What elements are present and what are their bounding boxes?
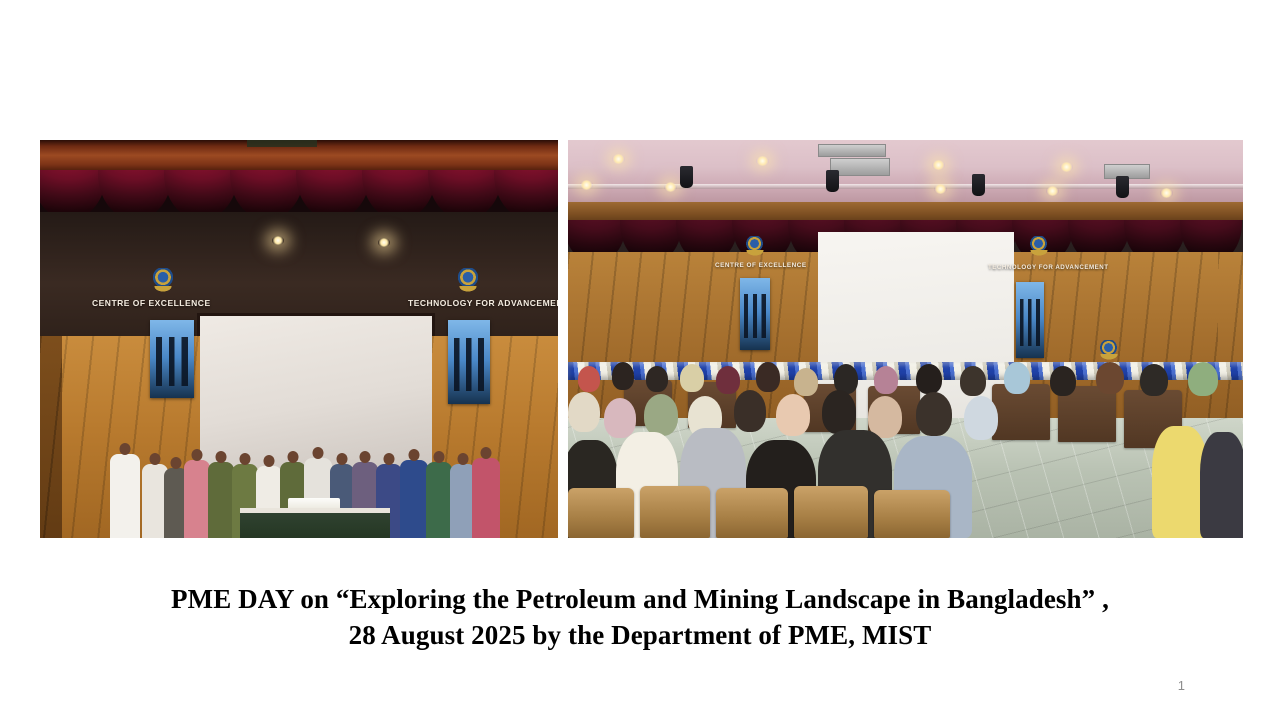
wall-text-technology-for-advancement: TECHNOLOGY FOR ADVANCEMENT [408,298,558,308]
audience-member [1188,362,1218,396]
wall-text-technology-for-advancement: TECHNOLOGY FOR ADVANCEMENT [988,264,1108,271]
slide-caption: PME DAY on “Exploring the Petroleum and … [60,582,1220,653]
institution-crest-icon [1030,236,1047,254]
wall-text-centre-of-excellence: CENTRE OF EXCELLENCE [715,262,807,269]
ceiling-vent [247,140,317,147]
caption-line-1: PME DAY on “Exploring the Petroleum and … [60,582,1220,618]
ceiling-light [1160,188,1173,198]
person [110,454,140,538]
poster-rig-graphic [744,294,766,339]
audience-member [646,366,668,392]
audience-member [1200,432,1243,538]
audience-member [1096,362,1124,394]
audience-member [874,366,898,394]
audience-member [794,368,818,396]
ceiling-light [612,154,625,164]
poster-rig-graphic [156,337,188,385]
wall-poster-right [448,320,490,404]
institution-crest-icon [458,268,478,290]
stage-spotlight [378,238,390,247]
wall-poster-left [740,278,770,350]
ceiling-light [1060,162,1073,172]
audience-member [680,364,704,392]
wall-poster-right [1016,282,1044,358]
audience-member [960,366,986,396]
institution-crest-icon [746,236,763,254]
audience-member [734,390,766,432]
audience-photo: CENTRE OF EXCELLENCE TECHNOLOGY FOR ADVA… [568,140,1243,538]
audience-member [568,392,600,432]
wall-poster-left [150,320,194,398]
audience-member [776,394,810,436]
ceiling-speaker [1116,176,1129,198]
wall-text-centre-of-excellence: CENTRE OF EXCELLENCE [92,298,211,308]
stage-spotlight [272,236,284,245]
audience-member [604,398,636,438]
auditorium-chair [794,486,868,538]
audience-member [1004,362,1030,394]
audience-member [916,392,952,436]
poster-rig-graphic [454,338,484,390]
person [400,460,428,538]
audience-member [1140,364,1168,396]
ceiling-light [664,182,677,192]
audience-member [916,364,942,394]
person [208,462,234,538]
group-photo: CENTRE OF EXCELLENCE TECHNOLOGY FOR ADVA… [40,140,558,538]
ceiling-light [934,184,947,194]
ceiling-light [932,160,945,170]
audience-member [756,362,780,392]
ceiling-speaker [680,166,693,188]
slide-canvas: CENTRE OF EXCELLENCE TECHNOLOGY FOR ADVA… [0,0,1280,720]
ceiling-vent [818,144,886,157]
auditorium-chair [568,488,634,538]
auditorium-chair [716,488,788,538]
person [472,458,500,538]
institution-crest-icon [153,268,173,290]
person [426,462,452,538]
ceiling-light [580,180,593,190]
page-number: 1 [1178,678,1185,693]
ac-vent [830,158,890,176]
audience-member [612,362,634,390]
wood-wall-edge [40,336,62,538]
auditorium-chair [874,490,950,538]
audience-member [964,396,998,440]
ceiling-speaker [972,174,985,196]
ceiling-light [1046,186,1059,196]
person [184,460,210,538]
audience-member [822,390,856,434]
auditorium-chair [640,486,710,538]
institution-crest-icon [1100,340,1117,358]
ceiling-speaker [826,170,839,192]
draped-table [240,508,390,538]
ceiling-light [756,156,769,166]
audience-member [578,366,600,392]
audience-member [1050,366,1076,396]
audience-member [644,394,678,436]
caption-line-2: 28 August 2025 by the Department of PME,… [60,618,1220,654]
audience-member [716,366,740,394]
poster-rig-graphic [1020,299,1040,346]
